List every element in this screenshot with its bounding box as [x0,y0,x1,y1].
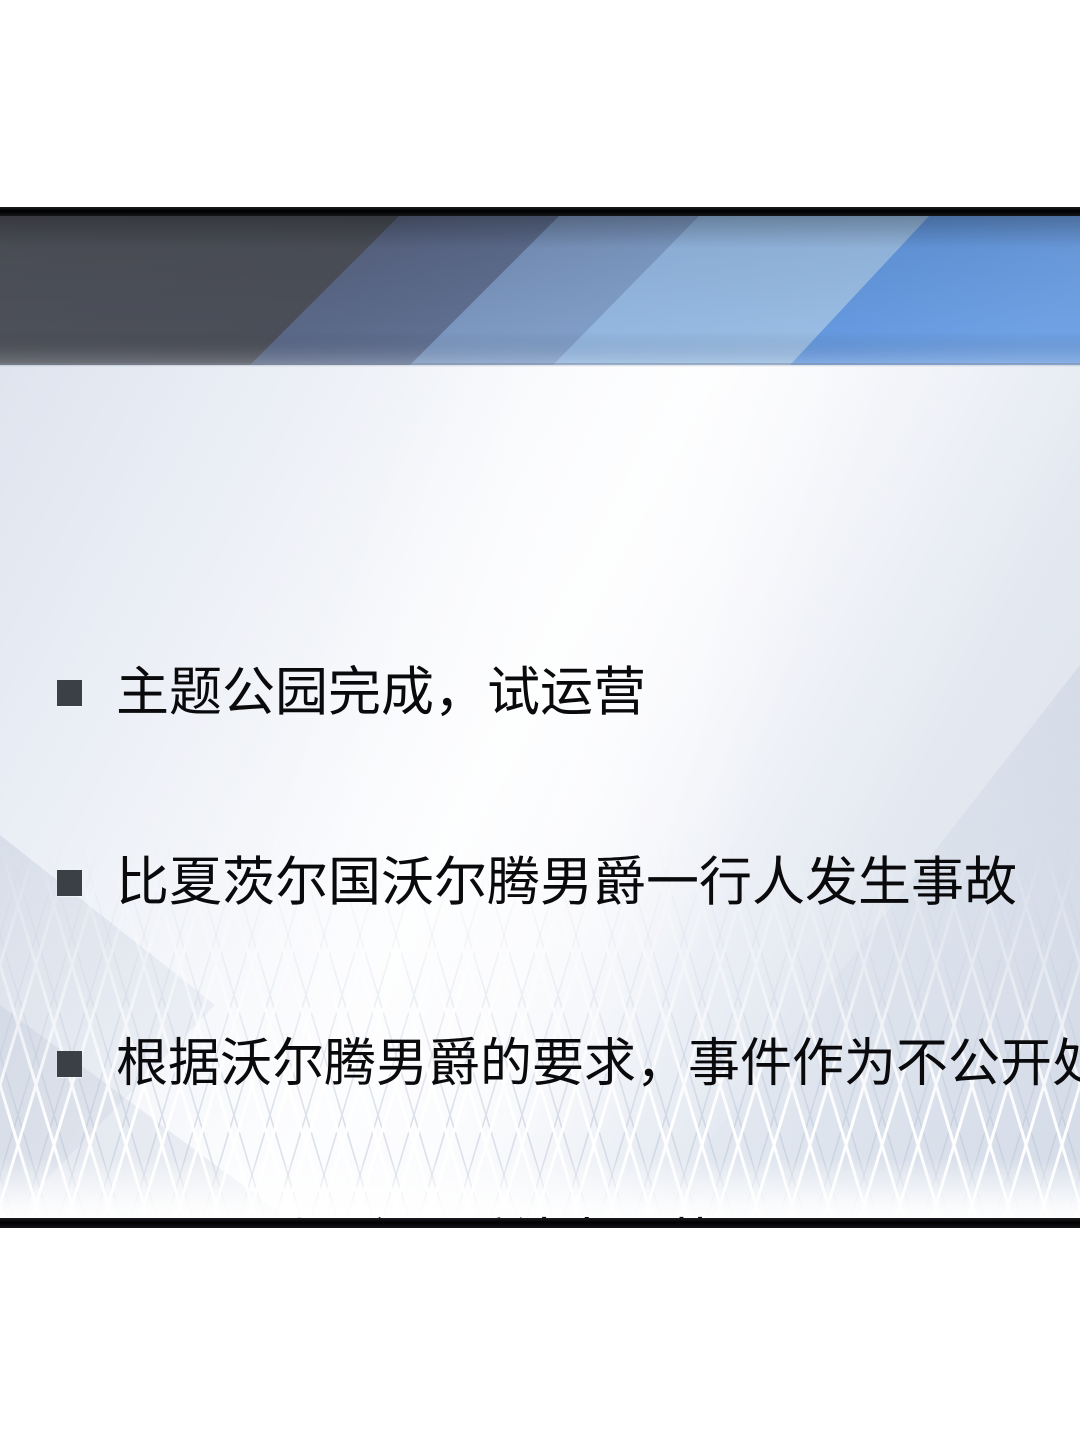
slide-header-banner [0,215,1080,365]
bullet-text-1: 主题公园完成，试运营 [116,664,646,721]
bullet-item-3[interactable]: 根据沃尔腾男爵的要求，事件作为不公开处理 [0,1036,1080,1092]
slide-bottom-rule [0,1218,1080,1228]
square-bullet-icon [57,680,82,706]
bullet-text-2: 比夏茨尔国沃尔腾男爵一行人发生事故 [116,854,1017,911]
square-bullet-icon [57,870,82,896]
presentation-slide[interactable]: 主题公园完成，试运营 比夏茨尔国沃尔腾男爵一行人发生事故 根据沃尔腾男爵的要求，… [0,207,1080,1228]
banner-underline [0,363,1080,367]
slide-page: 主题公园完成，试运营 比夏茨尔国沃尔腾男爵一行人发生事故 根据沃尔腾男爵的要求，… [0,0,1080,1436]
bullet-item-1[interactable]: 主题公园完成，试运营 [0,664,1080,721]
bullet-text-3: 根据沃尔腾男爵的要求，事件作为不公开处理 [116,1036,1080,1092]
slide-top-rule [0,207,1080,216]
slide-content-body: 主题公园完成，试运营 比夏茨尔国沃尔腾男爵一行人发生事故 根据沃尔腾男爵的要求，… [0,365,1080,1228]
bullet-item-2[interactable]: 比夏茨尔国沃尔腾男爵一行人发生事故 [0,854,1080,911]
square-bullet-icon [57,1051,82,1077]
